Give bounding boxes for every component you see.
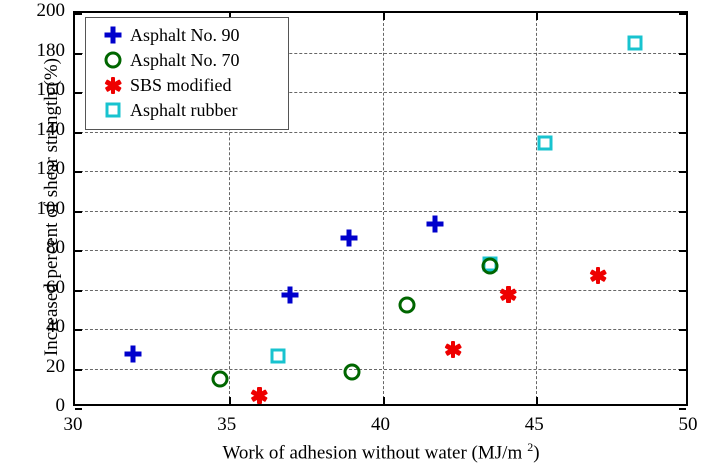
y-tickmark [679, 329, 686, 331]
y-tickmark [679, 211, 686, 213]
y-tickmark [75, 211, 82, 213]
chart-legend[interactable]: Asphalt No. 90Asphalt No. 70SBS modified… [85, 17, 289, 130]
gridline-vertical [383, 13, 384, 404]
x-tickmark [383, 397, 385, 404]
y-tick-label: 80 [5, 238, 65, 257]
y-tick-label: 180 [5, 41, 65, 60]
x-axis-label: Work of adhesion without water (MJ/m2) [73, 440, 689, 464]
legend-label: Asphalt No. 90 [130, 25, 240, 46]
legend-item-1[interactable]: Asphalt No. 70 [86, 48, 288, 73]
y-tickmark [75, 92, 82, 94]
y-tick-label: 20 [5, 357, 65, 376]
y-tickmark [75, 13, 82, 15]
marker-square [106, 103, 121, 118]
legend-marker [96, 48, 130, 73]
marker-circle [105, 52, 122, 69]
y-tickmark [679, 408, 686, 410]
x-tickmark [229, 397, 231, 404]
y-tickmark [679, 53, 686, 55]
x-tick-label: 50 [658, 415, 705, 434]
gridline-vertical [536, 13, 537, 404]
data-point [251, 386, 269, 404]
data-point [211, 371, 228, 388]
y-tick-label: 200 [5, 1, 65, 20]
gridline-horizontal [75, 369, 686, 370]
y-tick-label: 40 [5, 317, 65, 336]
legend-marker [96, 23, 130, 48]
y-tickmark [75, 369, 82, 371]
legend-marker [96, 98, 130, 123]
y-tickmark [679, 13, 686, 15]
legend-item-0[interactable]: Asphalt No. 90 [86, 23, 288, 48]
y-tick-label: 120 [5, 159, 65, 178]
y-tick-label: 160 [5, 80, 65, 99]
y-tickmark [679, 290, 686, 292]
y-tickmark [75, 171, 82, 173]
x-tickmark [536, 397, 538, 404]
x-tickmark [383, 13, 385, 20]
gridline-horizontal [75, 250, 686, 251]
data-point [444, 341, 462, 359]
x-axis-label-text: Work of adhesion without water (MJ/m [222, 442, 522, 463]
data-point [125, 345, 142, 362]
x-tick-label: 35 [197, 415, 257, 434]
data-point [589, 267, 607, 285]
y-tickmark [679, 369, 686, 371]
x-tick-label: 40 [351, 415, 411, 434]
data-point [343, 364, 360, 381]
marker-plus [105, 27, 122, 44]
y-tickmark [679, 250, 686, 252]
gridline-horizontal [75, 211, 686, 212]
y-tickmark [75, 329, 82, 331]
data-point [270, 348, 285, 363]
scatter-chart-figure: Increased percent of shear strength (%) … [0, 0, 705, 476]
data-point [538, 136, 553, 151]
gridline-horizontal [75, 290, 686, 291]
x-tick-label: 45 [504, 415, 564, 434]
legend-label: Asphalt rubber [130, 100, 237, 121]
data-point [282, 287, 299, 304]
y-tickmark [75, 408, 82, 410]
gridline-horizontal [75, 329, 686, 330]
legend-item-2[interactable]: SBS modified [86, 73, 288, 98]
y-tickmark [75, 290, 82, 292]
y-tick-label: 140 [5, 120, 65, 139]
gridline-horizontal [75, 171, 686, 172]
gridline-horizontal [75, 132, 686, 133]
marker-star [104, 76, 122, 94]
y-tickmark [679, 92, 686, 94]
y-tickmark [75, 250, 82, 252]
y-tickmark [75, 53, 82, 55]
x-axis-label-suffix: ) [533, 442, 539, 463]
data-point [340, 230, 357, 247]
legend-item-3[interactable]: Asphalt rubber [86, 98, 288, 123]
legend-label: SBS modified [130, 75, 232, 96]
legend-marker [96, 73, 130, 98]
data-point [500, 285, 518, 303]
y-tick-label: 60 [5, 278, 65, 297]
data-point [482, 257, 499, 274]
y-tickmark [679, 171, 686, 173]
legend-label: Asphalt No. 70 [130, 50, 240, 71]
data-point [426, 216, 443, 233]
y-tickmark [679, 132, 686, 134]
y-tick-label: 100 [5, 199, 65, 218]
x-tickmark [536, 13, 538, 20]
x-tick-label: 30 [43, 415, 103, 434]
y-tick-label: 0 [5, 396, 65, 415]
data-point [399, 297, 416, 314]
data-point [627, 35, 642, 50]
y-tickmark [75, 132, 82, 134]
